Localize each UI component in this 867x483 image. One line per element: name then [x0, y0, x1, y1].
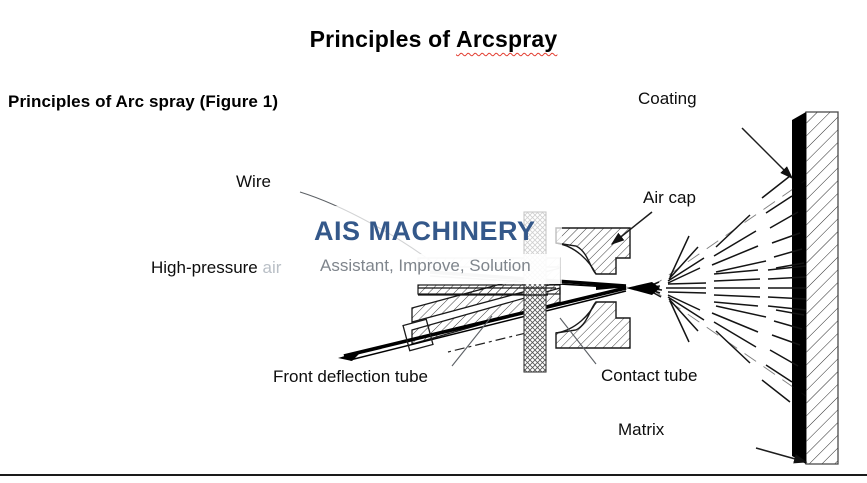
- air-cap-lower: [556, 302, 630, 348]
- label-contact-tube: Contact tube: [601, 366, 697, 386]
- label-coating: Coating: [638, 89, 697, 109]
- page-canvas: Principles of Arcspray Principles of Arc…: [0, 0, 867, 483]
- label-wire: Wire: [236, 172, 271, 192]
- label-front-deflection-tube: Front deflection tube: [273, 367, 428, 387]
- page-title: Principles of Arcspray: [0, 26, 867, 53]
- arcspray-diagram: [0, 0, 867, 483]
- label-high-pressure-air-visible: High-pressure: [151, 258, 258, 277]
- label-matrix: Matrix: [618, 420, 664, 440]
- contact-tube: [524, 212, 546, 372]
- label-high-pressure-air-occluded: air: [258, 258, 282, 277]
- label-high-pressure-air: High-pressure air: [151, 258, 281, 278]
- label-air-cap: Air cap: [643, 188, 696, 208]
- leader-coating: [742, 128, 792, 178]
- title-misspelled-word: Arcspray: [456, 26, 557, 52]
- leader-lines-dark: [612, 128, 806, 462]
- leader-wire: [300, 192, 432, 262]
- page-bottom-rule: [0, 474, 867, 476]
- figure-subtitle: Principles of Arc spray (Figure 1): [8, 92, 278, 112]
- air-cap-upper: [556, 228, 630, 274]
